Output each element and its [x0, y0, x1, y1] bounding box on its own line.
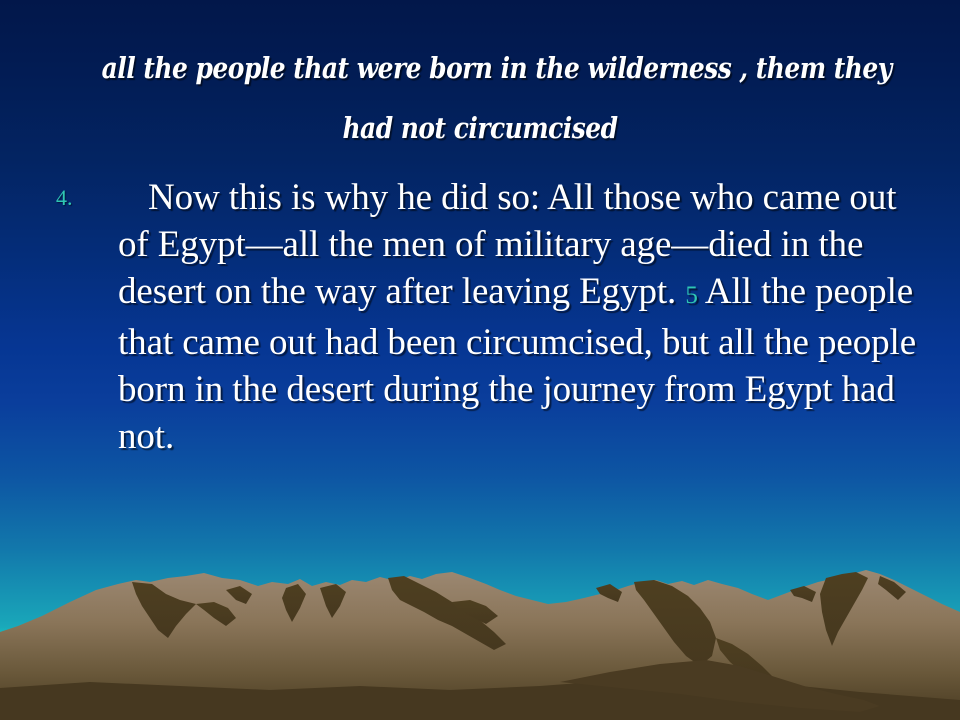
mountain-range-illustration: [0, 560, 960, 720]
bulleted-list-item: 4. Now this is why he did so: All those …: [56, 174, 916, 460]
slide-title: all the people that were born in the wil…: [102, 38, 859, 158]
slide-body-content: 4. Now this is why he did so: All those …: [56, 174, 916, 460]
title-line-2: had not circumcised: [102, 98, 859, 158]
title-line-1: all the people that were born in the wil…: [102, 38, 859, 98]
verse-number-marker: 5: [685, 282, 697, 309]
scripture-paragraph: Now this is why he did so: All those who…: [118, 174, 916, 460]
presentation-slide: all the people that were born in the wil…: [0, 0, 960, 720]
list-item-number: 4.: [56, 174, 118, 221]
